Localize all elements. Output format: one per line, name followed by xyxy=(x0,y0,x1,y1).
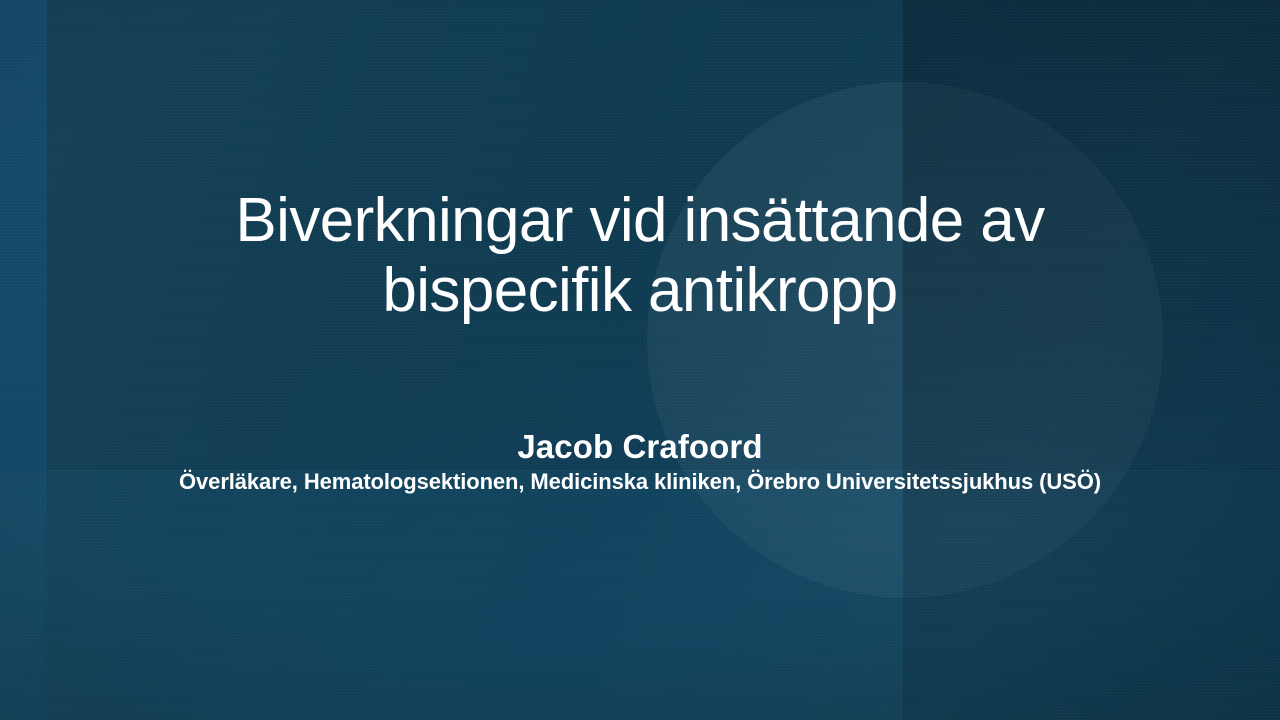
slide-content: Biverkningar vid insättande av bispecifi… xyxy=(0,0,1280,720)
slide-title-line-2: bispecifik antikropp xyxy=(120,256,1160,326)
presenter-name: Jacob Crafoord xyxy=(0,428,1280,466)
slide-title-line-1: Biverkningar vid insättande av xyxy=(120,186,1160,256)
presenter-byline: Jacob Crafoord Överläkare, Hematologsekt… xyxy=(0,428,1280,496)
slide-title: Biverkningar vid insättande av bispecifi… xyxy=(0,186,1280,326)
presentation-slide: Biverkningar vid insättande av bispecifi… xyxy=(0,0,1280,720)
presenter-role: Överläkare, Hematologsektionen, Medicins… xyxy=(0,468,1280,496)
